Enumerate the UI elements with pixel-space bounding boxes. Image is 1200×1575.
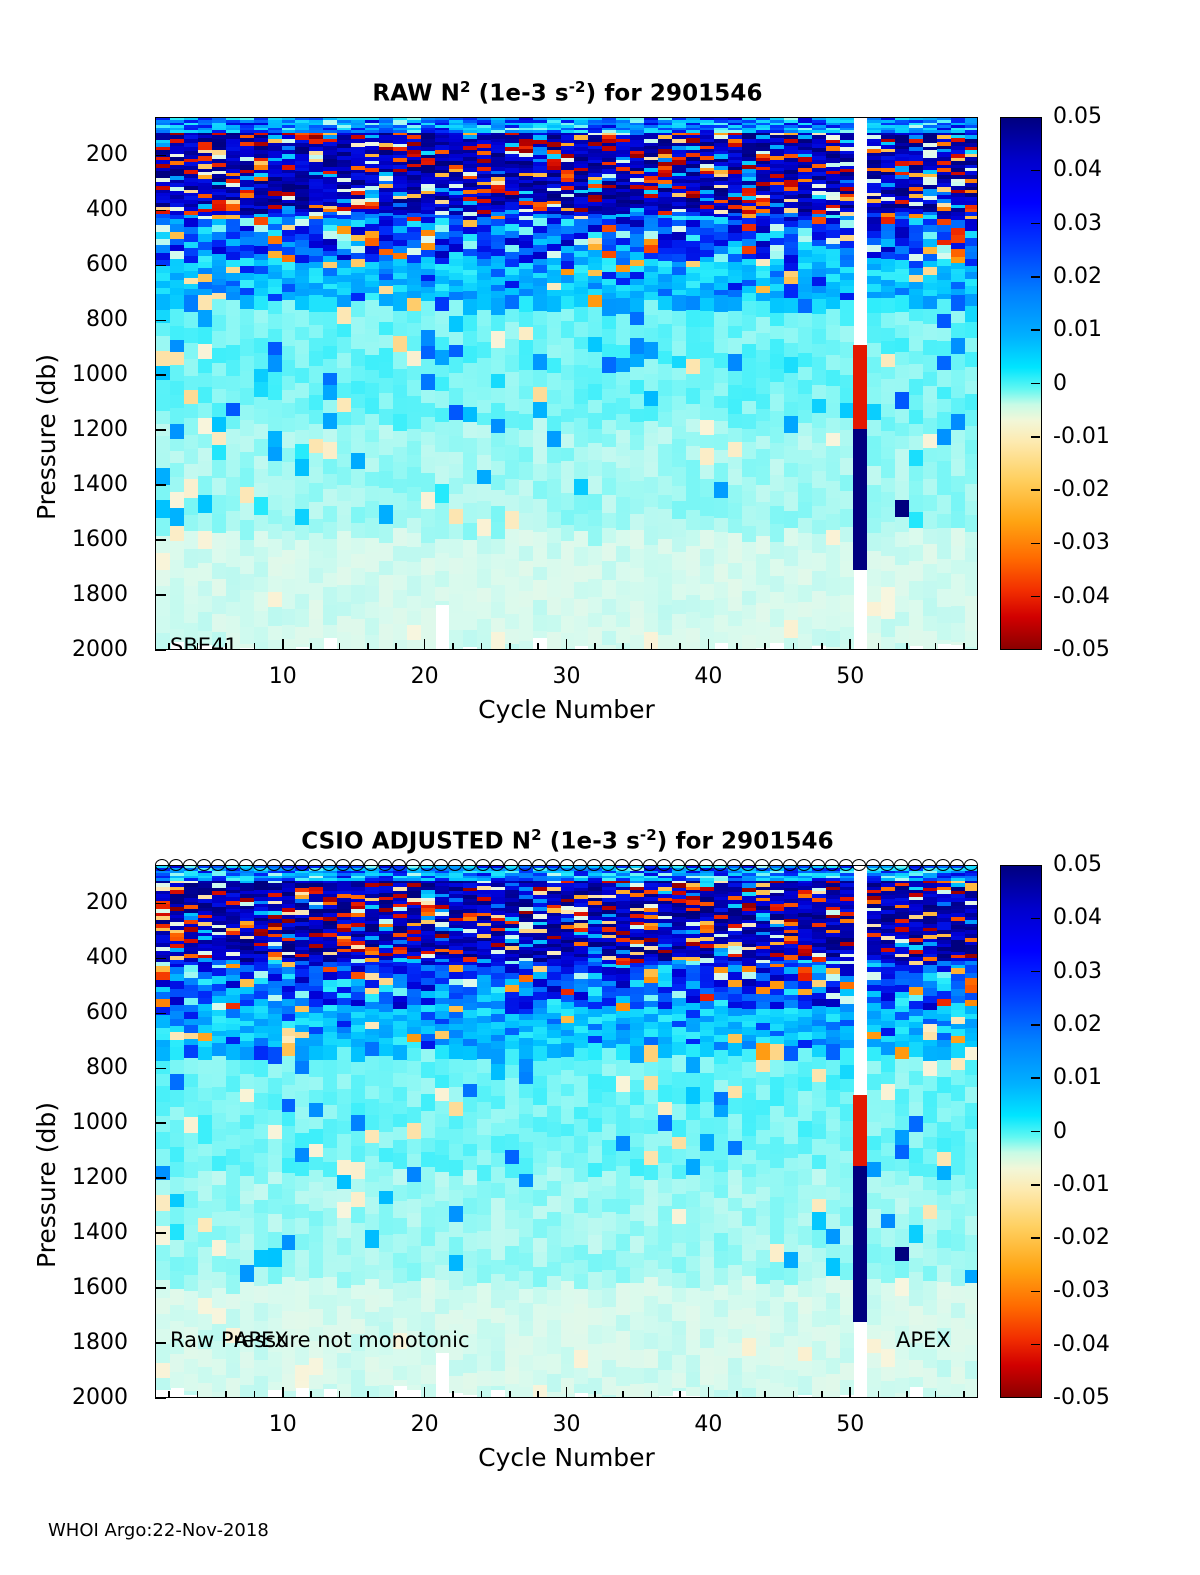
x-minor-tick bbox=[736, 1391, 738, 1398]
x-minor-tick bbox=[963, 643, 965, 650]
cycle-marker bbox=[783, 859, 797, 871]
colorbar-tick-label: 0.03 bbox=[1053, 211, 1102, 236]
x-minor-tick bbox=[708, 1391, 710, 1398]
x-minor-tick bbox=[168, 643, 170, 650]
x-minor-tick bbox=[225, 1391, 227, 1398]
cycle-marker bbox=[699, 859, 713, 871]
cycle-marker bbox=[950, 859, 964, 871]
cycle-marker bbox=[685, 859, 699, 871]
cycle-marker bbox=[267, 859, 281, 871]
x-minor-tick bbox=[537, 1391, 539, 1398]
cycle-marker bbox=[155, 859, 169, 871]
x-minor-tick bbox=[452, 1391, 454, 1398]
x-axis-label-raw: Cycle Number bbox=[155, 695, 978, 724]
y-tick-mark bbox=[155, 903, 166, 905]
x-minor-tick bbox=[679, 1391, 681, 1398]
colorbar-tick-label: 0.03 bbox=[1053, 959, 1102, 984]
cycle-marker bbox=[727, 859, 741, 871]
cycle-marker bbox=[281, 859, 295, 871]
x-tick-label: 40 bbox=[694, 664, 722, 689]
figure-footer: WHOI Argo:22-Nov-2018 bbox=[48, 1520, 269, 1541]
cycle-marker bbox=[295, 859, 309, 871]
colorbar-tick-mark bbox=[1031, 1131, 1040, 1133]
x-tick-label: 20 bbox=[411, 1412, 439, 1437]
cycle-marker bbox=[964, 859, 978, 871]
colorbar-tick-label: 0 bbox=[1053, 1119, 1067, 1144]
y-tick-label: 1800 bbox=[20, 1330, 128, 1355]
x-minor-tick bbox=[878, 1391, 880, 1398]
x-minor-tick bbox=[793, 1391, 795, 1398]
y-tick-label: 1600 bbox=[20, 1275, 128, 1300]
cycle-marker bbox=[839, 859, 853, 871]
x-minor-tick bbox=[849, 1391, 851, 1398]
x-minor-tick bbox=[594, 1391, 596, 1398]
colorbar-tick-mark bbox=[1031, 329, 1040, 331]
x-minor-tick bbox=[310, 643, 312, 650]
colorbar-tick-mark bbox=[1031, 170, 1040, 172]
colorbar-tick-mark bbox=[1031, 543, 1040, 545]
y-tick-label: 400 bbox=[20, 197, 128, 222]
colorbar-tick-label: -0.04 bbox=[1053, 1332, 1110, 1357]
heatmap-canvas-adjusted bbox=[156, 866, 977, 1397]
x-minor-tick bbox=[254, 1391, 256, 1398]
cycle-marker bbox=[769, 859, 783, 871]
y-tick-mark bbox=[155, 484, 166, 486]
x-tick-label: 30 bbox=[553, 1412, 581, 1437]
colorbar-tick-mark bbox=[1031, 1077, 1040, 1079]
y-tick-mark bbox=[155, 1013, 166, 1015]
x-tick-label: 10 bbox=[269, 1412, 297, 1437]
y-tick-mark bbox=[155, 1122, 166, 1124]
colorbar-tick-mark bbox=[1031, 1344, 1040, 1346]
x-minor-tick bbox=[197, 643, 199, 650]
y-tick-mark bbox=[155, 429, 166, 431]
colorbar-tick-label: 0.04 bbox=[1053, 157, 1102, 182]
y-tick-mark bbox=[155, 1177, 166, 1179]
colorbar-tick-label: -0.03 bbox=[1053, 1278, 1110, 1303]
y-tick-label: 400 bbox=[20, 945, 128, 970]
x-minor-tick bbox=[509, 643, 511, 650]
y-tick-mark bbox=[155, 374, 166, 376]
colorbar-tick-mark bbox=[1031, 489, 1040, 491]
colorbar-tick-label: -0.04 bbox=[1053, 584, 1110, 609]
x-minor-tick bbox=[622, 1391, 624, 1398]
x-minor-tick bbox=[906, 643, 908, 650]
cycle-marker bbox=[253, 859, 267, 871]
x-minor-tick bbox=[481, 1391, 483, 1398]
x-tick-label: 30 bbox=[553, 664, 581, 689]
x-minor-tick bbox=[566, 643, 568, 650]
cycle-marker bbox=[197, 859, 211, 871]
y-tick-label: 600 bbox=[20, 252, 128, 277]
x-minor-tick bbox=[424, 1391, 426, 1398]
colorbar-tick-label: -0.02 bbox=[1053, 477, 1110, 502]
y-tick-mark bbox=[155, 1397, 166, 1399]
y-tick-mark bbox=[155, 320, 166, 322]
x-minor-tick bbox=[481, 643, 483, 650]
monotonic-warning: Raw Pressure not monotonic bbox=[170, 1328, 470, 1352]
y-tick-label: 800 bbox=[20, 1055, 128, 1080]
cycle-marker bbox=[211, 859, 225, 871]
y-tick-label: 1800 bbox=[20, 582, 128, 607]
y-tick-mark bbox=[155, 265, 166, 267]
colorbar-tick-label: -0.01 bbox=[1053, 1172, 1110, 1197]
y-tick-mark bbox=[155, 1287, 166, 1289]
colorbar-tick-label: -0.05 bbox=[1053, 1385, 1110, 1410]
cycle-marker bbox=[434, 859, 448, 871]
heatmap-canvas-raw bbox=[156, 118, 977, 649]
cycle-marker bbox=[532, 859, 546, 871]
x-minor-tick bbox=[594, 643, 596, 650]
colorbar-tick-label: -0.03 bbox=[1053, 530, 1110, 555]
x-minor-tick bbox=[395, 643, 397, 650]
cycle-marker bbox=[825, 859, 839, 871]
x-minor-tick bbox=[878, 643, 880, 650]
cycle-marker bbox=[420, 859, 434, 871]
x-axis-label-adjusted: Cycle Number bbox=[155, 1443, 978, 1472]
panel-raw: RAW N2 (1e-3 s-2) for 2901546 SBE41SBE41… bbox=[0, 0, 1200, 760]
colorbar-tick-label: 0.04 bbox=[1053, 905, 1102, 930]
x-minor-tick bbox=[197, 1391, 199, 1398]
x-minor-tick bbox=[849, 643, 851, 650]
colorbar-tick-mark bbox=[1031, 1184, 1040, 1186]
cycle-marker bbox=[169, 859, 183, 871]
x-minor-tick bbox=[651, 643, 653, 650]
x-minor-tick bbox=[679, 643, 681, 650]
cycle-marker bbox=[518, 859, 532, 871]
x-minor-tick bbox=[935, 1391, 937, 1398]
colorbar-tick-label: 0.01 bbox=[1053, 1065, 1102, 1090]
x-minor-tick bbox=[821, 1391, 823, 1398]
colorbar-tick-mark bbox=[1031, 971, 1040, 973]
colorbar-tick-mark bbox=[1031, 276, 1040, 278]
cycle-marker bbox=[713, 859, 727, 871]
y-axis-label-raw: Pressure (db) bbox=[32, 354, 61, 520]
cycle-marker bbox=[741, 859, 755, 871]
x-minor-tick bbox=[339, 643, 341, 650]
colorbar-tick-mark bbox=[1031, 1237, 1040, 1239]
colorbar-tick-mark bbox=[1031, 1291, 1040, 1293]
colorbar-tick-mark bbox=[1031, 383, 1040, 385]
sensor-model-1: SBE41 bbox=[170, 634, 238, 650]
x-minor-tick bbox=[282, 643, 284, 650]
y-tick-label: 600 bbox=[20, 1000, 128, 1025]
y-tick-mark bbox=[155, 649, 166, 651]
x-minor-tick bbox=[736, 643, 738, 650]
cycle-marker bbox=[392, 859, 406, 871]
y-tick-mark bbox=[155, 958, 166, 960]
cycle-marker bbox=[560, 859, 574, 871]
y-tick-label: 200 bbox=[20, 890, 128, 915]
x-minor-tick bbox=[821, 643, 823, 650]
y-tick-label: 1600 bbox=[20, 527, 128, 552]
x-minor-tick bbox=[651, 1391, 653, 1398]
heatmap-plot-raw[interactable]: SBE41SBE412900PSIA bbox=[155, 117, 978, 650]
cycle-marker bbox=[755, 859, 769, 871]
cycle-marker bbox=[183, 859, 197, 871]
cycle-marker bbox=[462, 859, 476, 871]
x-minor-tick bbox=[395, 1391, 397, 1398]
panel-adjusted-title: CSIO ADJUSTED N2 (1e-3 s-2) for 2901546 bbox=[155, 826, 980, 855]
y-tick-mark bbox=[155, 210, 166, 212]
colorbar-tick-label: 0.01 bbox=[1053, 317, 1102, 342]
cycle-marker bbox=[406, 859, 420, 871]
x-minor-tick bbox=[537, 643, 539, 650]
colorbar-tick-label: 0 bbox=[1053, 371, 1067, 396]
platform-type-right: APEX bbox=[896, 1328, 951, 1352]
platform-type-left: APEX bbox=[234, 1328, 289, 1352]
x-minor-tick bbox=[764, 1391, 766, 1398]
x-minor-tick bbox=[764, 643, 766, 650]
y-tick-mark bbox=[155, 1068, 166, 1070]
y-tick-mark bbox=[155, 1342, 166, 1344]
x-tick-label: 10 bbox=[269, 664, 297, 689]
cycle-marker bbox=[671, 859, 685, 871]
x-minor-tick bbox=[225, 643, 227, 650]
x-tick-label: 20 bbox=[411, 664, 439, 689]
y-tick-label: 200 bbox=[20, 142, 128, 167]
colorbar-tick-mark bbox=[1031, 223, 1040, 225]
x-minor-tick bbox=[254, 643, 256, 650]
y-tick-mark bbox=[155, 1232, 166, 1234]
colorbar-tick-mark bbox=[1031, 596, 1040, 598]
x-minor-tick bbox=[963, 1391, 965, 1398]
x-minor-tick bbox=[509, 1391, 511, 1398]
panel-adjusted: CSIO ADJUSTED N2 (1e-3 s-2) for 2901546 … bbox=[0, 748, 1200, 1508]
x-tick-label: 50 bbox=[836, 1412, 864, 1437]
x-minor-tick bbox=[310, 1391, 312, 1398]
x-minor-tick bbox=[168, 1391, 170, 1398]
x-minor-tick bbox=[935, 643, 937, 650]
x-tick-label: 40 bbox=[694, 1412, 722, 1437]
cycle-marker bbox=[448, 859, 462, 871]
panel-raw-title: RAW N2 (1e-3 s-2) for 2901546 bbox=[155, 78, 980, 107]
colorbar-tick-mark bbox=[1031, 918, 1040, 920]
y-tick-mark bbox=[155, 155, 166, 157]
x-tick-label: 50 bbox=[836, 664, 864, 689]
colorbar-tick-mark bbox=[1031, 436, 1040, 438]
cycle-marker bbox=[239, 859, 253, 871]
x-minor-tick bbox=[793, 643, 795, 650]
y-axis-label-adjusted: Pressure (db) bbox=[32, 1102, 61, 1268]
x-minor-tick bbox=[622, 643, 624, 650]
cycle-marker bbox=[225, 859, 239, 871]
colorbar-tick-label: -0.02 bbox=[1053, 1225, 1110, 1250]
cycle-marker bbox=[546, 859, 560, 871]
cycle-marker bbox=[490, 859, 504, 871]
x-minor-tick bbox=[906, 1391, 908, 1398]
x-minor-tick bbox=[566, 1391, 568, 1398]
cycle-marker bbox=[936, 859, 950, 871]
x-minor-tick bbox=[452, 643, 454, 650]
x-minor-tick bbox=[708, 643, 710, 650]
colorbar-tick-label: -0.01 bbox=[1053, 424, 1110, 449]
x-minor-tick bbox=[367, 1391, 369, 1398]
x-minor-tick bbox=[424, 643, 426, 650]
colorbar-tick-label: 0.05 bbox=[1053, 852, 1102, 877]
colorbar-tick-label: -0.05 bbox=[1053, 637, 1110, 662]
heatmap-plot-adjusted[interactable]: Raw Pressure not monotonicAPEXAPEX bbox=[155, 865, 978, 1398]
y-tick-label: 2000 bbox=[20, 637, 128, 662]
cycle-marker bbox=[657, 859, 671, 871]
y-tick-mark bbox=[155, 539, 166, 541]
colorbar-tick-label: 0.02 bbox=[1053, 264, 1102, 289]
x-minor-tick bbox=[367, 643, 369, 650]
colorbar-tick-label: 0.02 bbox=[1053, 1012, 1102, 1037]
x-minor-tick bbox=[339, 1391, 341, 1398]
cycle-marker bbox=[811, 859, 825, 871]
x-minor-tick bbox=[282, 1391, 284, 1398]
y-tick-mark bbox=[155, 594, 166, 596]
cycle-marker bbox=[476, 859, 490, 871]
cycle-marker bbox=[504, 859, 518, 871]
y-tick-label: 2000 bbox=[20, 1385, 128, 1410]
y-tick-label: 800 bbox=[20, 307, 128, 332]
cycle-marker bbox=[797, 859, 811, 871]
colorbar-tick-label: 0.05 bbox=[1053, 104, 1102, 129]
colorbar-tick-mark bbox=[1031, 1024, 1040, 1026]
